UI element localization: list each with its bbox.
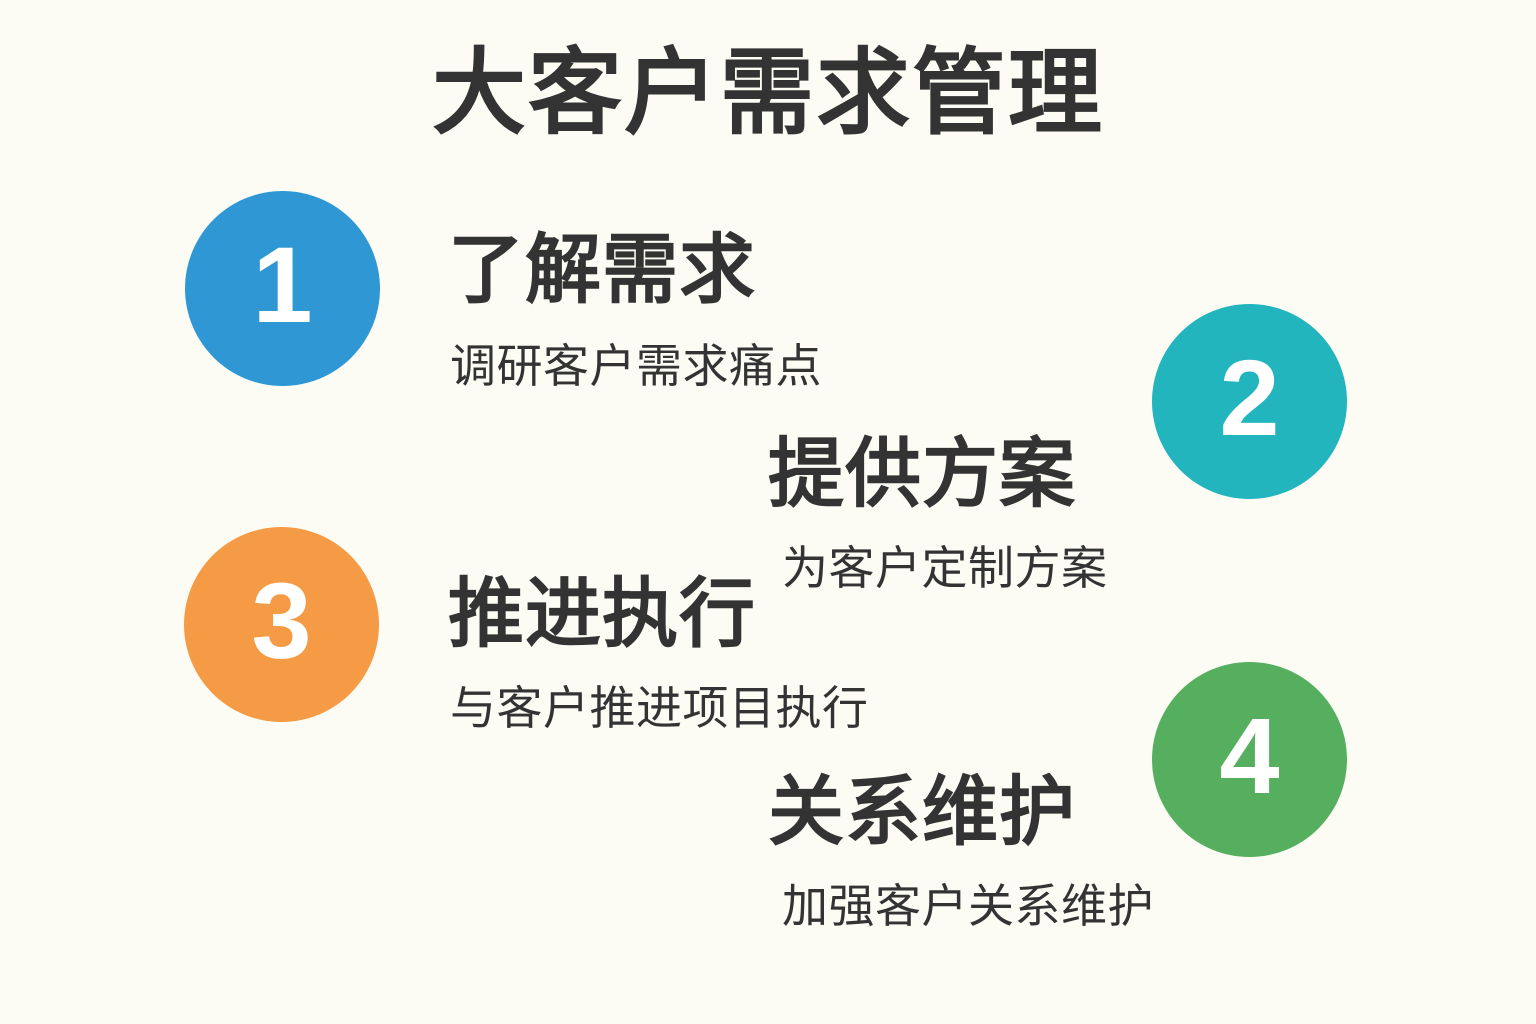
step-number-4: 4 — [1219, 702, 1279, 810]
step-number-2: 2 — [1219, 344, 1279, 452]
step-heading-4: 关系维护 — [768, 775, 1154, 851]
page-title: 大客户需求管理 — [0, 42, 1536, 144]
step-subtitle-4: 加强客户关系维护 — [782, 883, 1154, 929]
step-text-3: 推进执行 与客户推进项目执行 — [448, 577, 869, 731]
step-badge-4[interactable]: 4 — [1152, 662, 1347, 857]
step-heading-2: 提供方案 — [768, 437, 1108, 513]
step-subtitle-1: 调研客户需求痛点 — [450, 343, 822, 389]
step-subtitle-3: 与客户推进项目执行 — [450, 685, 869, 731]
step-text-4: 关系维护 加强客户关系维护 — [768, 775, 1154, 929]
step-number-3: 3 — [251, 567, 311, 675]
step-number-1: 1 — [252, 231, 312, 339]
step-badge-3[interactable]: 3 — [184, 527, 379, 722]
step-badge-2[interactable]: 2 — [1152, 304, 1347, 499]
step-heading-1: 了解需求 — [448, 233, 822, 309]
step-heading-3: 推进执行 — [448, 577, 869, 653]
step-text-2: 提供方案 为客户定制方案 — [768, 437, 1108, 591]
infographic-canvas: 大客户需求管理 1 了解需求 调研客户需求痛点 2 提供方案 为客户定制方案 3… — [0, 0, 1536, 1024]
step-text-1: 了解需求 调研客户需求痛点 — [448, 233, 822, 389]
step-badge-1[interactable]: 1 — [185, 191, 380, 386]
